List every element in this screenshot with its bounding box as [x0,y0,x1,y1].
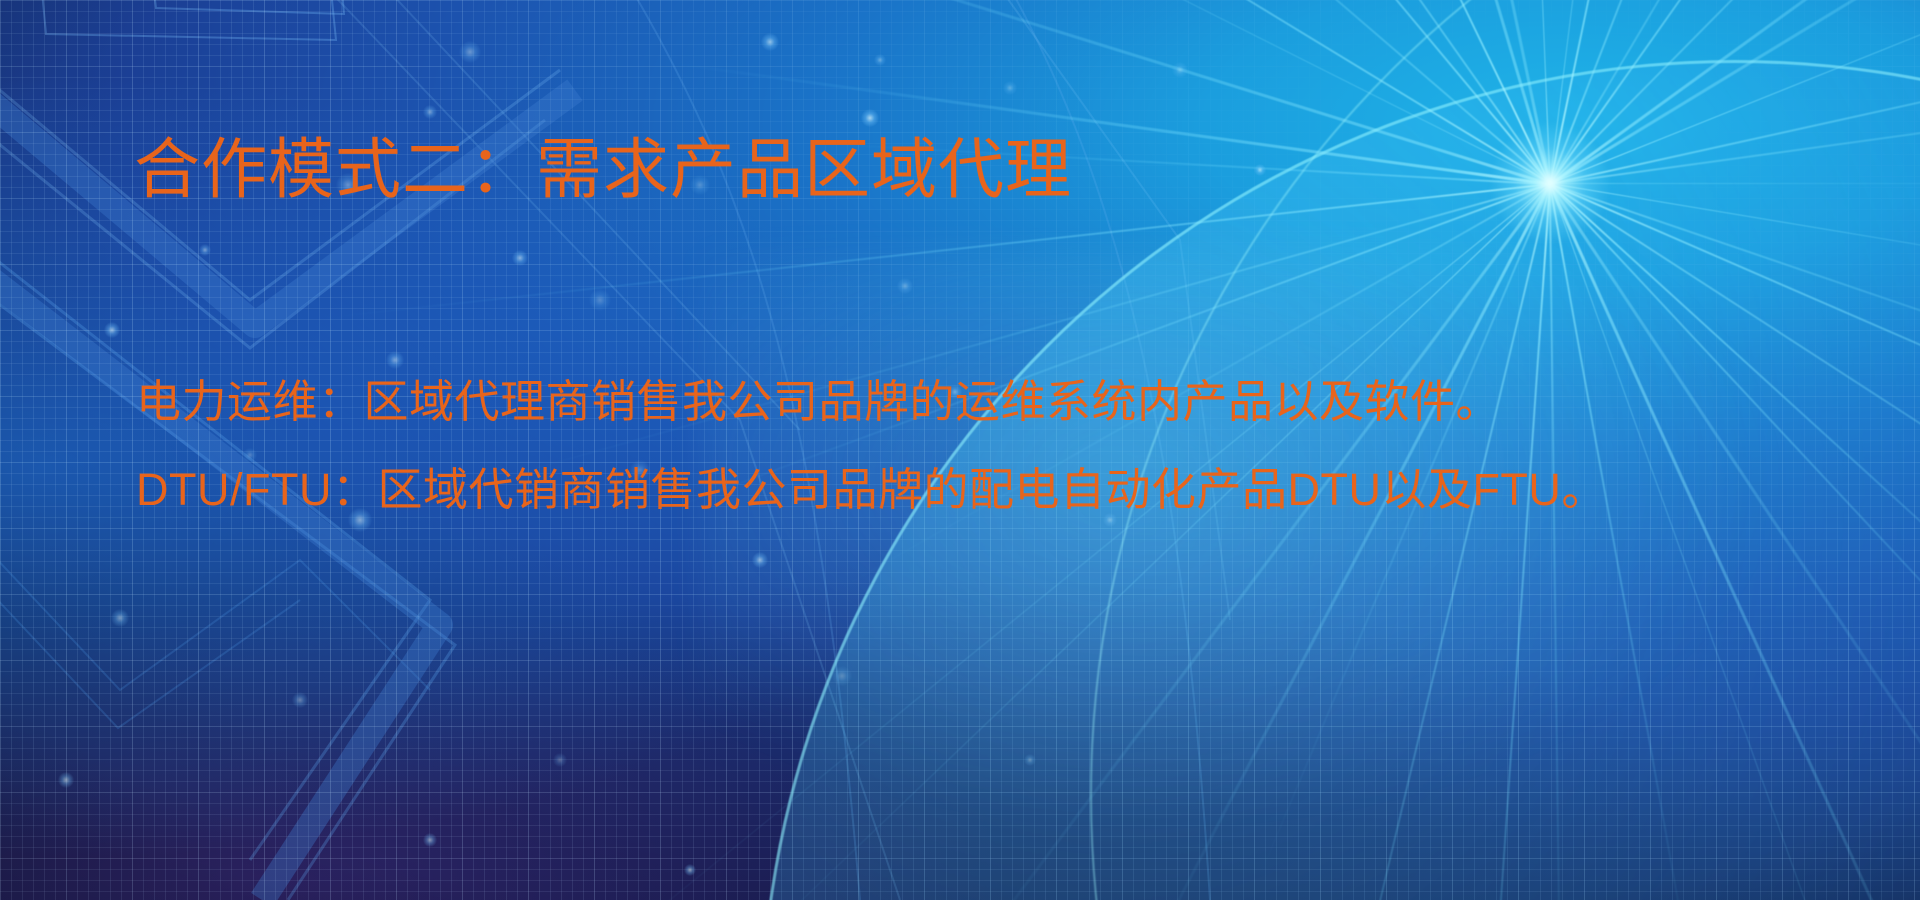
slide-title: 合作模式二：需求产品区域代理 [134,133,1072,207]
slide-content: 合作模式二：需求产品区域代理 电力运维：区域代理商销售我公司品牌的运维系统内产品… [0,0,1920,900]
slide-body: 电力运维：区域代理商销售我公司品牌的运维系统内产品以及软件。 DTU/FTU：区… [136,358,1607,534]
body-line-dtu-ftu: DTU/FTU：区域代销商销售我公司品牌的配电自动化产品DTU以及FTU。 [136,446,1607,534]
body-line-power-ops: 电力运维：区域代理商销售我公司品牌的运维系统内产品以及软件。 [136,358,1607,446]
presentation-slide: 合作模式二：需求产品区域代理 电力运维：区域代理商销售我公司品牌的运维系统内产品… [0,0,1920,900]
